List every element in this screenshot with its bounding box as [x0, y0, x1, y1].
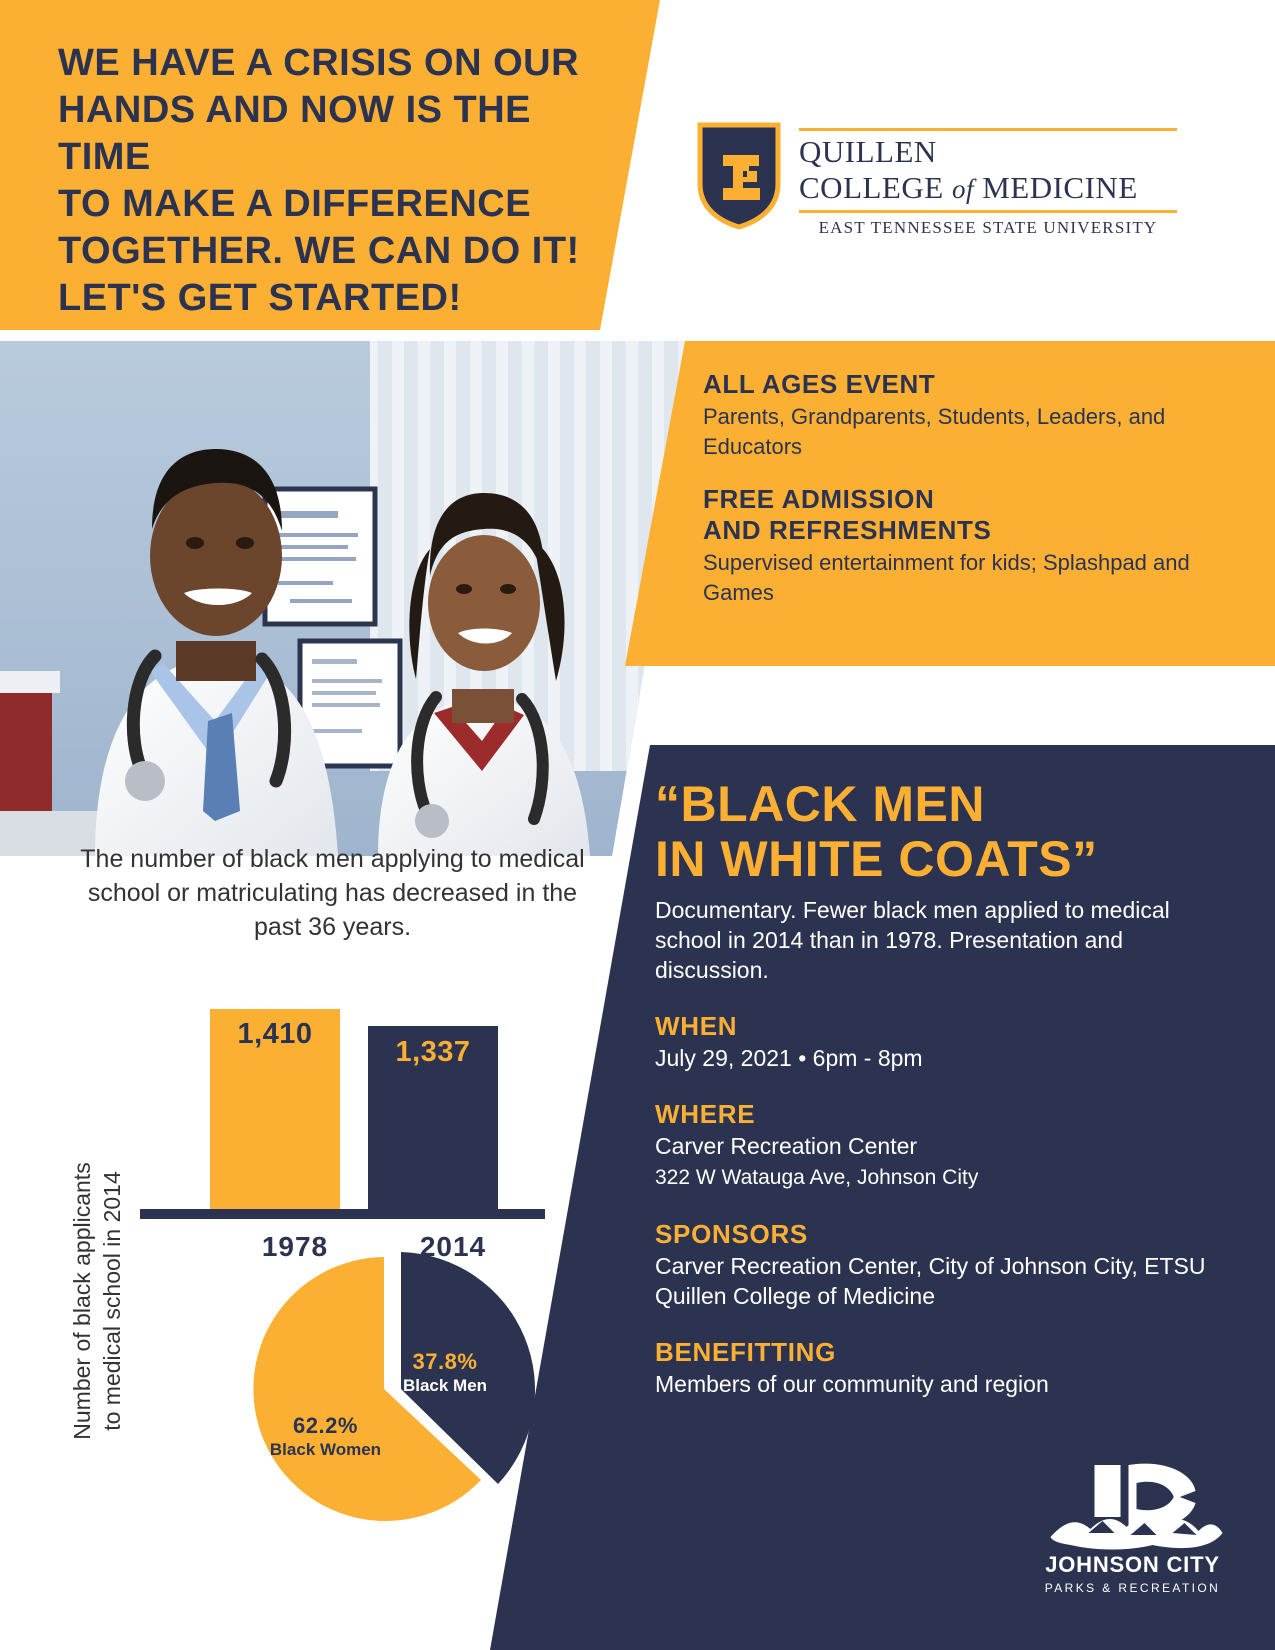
section-sponsors-list: Carver Recreation Center, City of Johnso… — [655, 1251, 1215, 1311]
logo-quillen: QUILLEN — [799, 131, 1177, 170]
info-spacer — [703, 462, 1223, 484]
info-body-free-admission: Supervised entertainment for kids; Splas… — [703, 548, 1223, 608]
pie-name-black-men: Black Men — [390, 1376, 500, 1396]
bar-chart-caption: The number of black men applying to medi… — [80, 842, 585, 944]
documentary-title-line-2: in White Coats” — [655, 832, 1215, 887]
section-when: When July 29, 2021 • 6pm - 8pm — [655, 1011, 1215, 1073]
info-heading-all-ages: All ages event — [703, 369, 1223, 400]
bar-value-2014: 1,337 — [368, 1036, 498, 1069]
headline-line-5: Let's get started! — [58, 275, 628, 322]
section-sponsors: Sponsors Carver Recreation Center, City … — [655, 1219, 1215, 1311]
info-heading-free-admission-line1: Free admission — [703, 484, 1223, 515]
pie-label-black-women: 62.2% Black Women — [263, 1413, 388, 1460]
section-where-heading: Where — [655, 1099, 1215, 1129]
headline-banner: We have a crisis on our hands and now is… — [0, 0, 660, 330]
event-info-panel: All ages event Parents, Grandparents, St… — [625, 341, 1275, 666]
pie-name-black-women: Black Women — [263, 1440, 388, 1460]
section-benefitting: Benefitting Members of our community and… — [655, 1337, 1215, 1399]
flyer-page: We have a crisis on our hands and now is… — [0, 0, 1275, 1650]
section-where: Where Carver Recreation Center 322 W Wat… — [655, 1099, 1215, 1193]
info-body-all-ages: Parents, Grandparents, Students, Leaders… — [703, 402, 1223, 462]
documentary-description: Documentary. Fewer black men applied to … — [655, 895, 1215, 985]
bar-value-1978: 1,410 — [210, 1018, 340, 1051]
section-when-heading: When — [655, 1011, 1215, 1041]
johnson-city-parks-logo: JOHNSON CITY PARKS & RECREATION — [1030, 1459, 1235, 1595]
etsu-shield-icon — [697, 122, 781, 230]
logo-college-of-medicine: COLLEGE of MEDICINE — [799, 170, 1177, 210]
headline-line-2: hands and now is the time — [58, 87, 628, 181]
section-when-datetime: July 29, 2021 • 6pm - 8pm — [655, 1043, 1215, 1073]
pie-percent-black-men: 37.8% — [390, 1349, 500, 1375]
info-heading-free-admission-line2: and refreshments — [703, 515, 1223, 546]
section-where-venue: Carver Recreation Center — [655, 1131, 1215, 1161]
section-benefitting-body: Members of our community and region — [655, 1369, 1215, 1399]
pie-label-black-men: 37.8% Black Men — [390, 1349, 500, 1396]
headline-line-4: together. We can do it! — [58, 228, 628, 275]
bar-chart-axis — [140, 1209, 545, 1219]
pie-percent-black-women: 62.2% — [263, 1413, 388, 1439]
documentary-title-line-1: “Black Men — [655, 777, 1215, 832]
jc-logo-title: JOHNSON CITY — [1030, 1552, 1235, 1578]
headline-line-3: to make a difference — [58, 181, 628, 228]
bar-chart: 1,410 1,337 1978 2014 — [120, 959, 560, 1219]
jc-logo-tagline: PARKS & RECREATION — [1030, 1581, 1235, 1595]
logo-medicine: MEDICINE — [974, 170, 1138, 205]
logo-university: EAST TENNESSEE STATE UNIVERSITY — [799, 213, 1177, 238]
section-benefitting-heading: Benefitting — [655, 1337, 1215, 1367]
logo-of: of — [952, 174, 974, 204]
etsu-wordmark: QUILLEN COLLEGE of MEDICINE EAST TENNESS… — [799, 122, 1177, 238]
documentary-title: “Black Men in White Coats” — [655, 777, 1215, 887]
headline-line-1: We have a crisis on our — [58, 40, 628, 87]
pie-chart: 37.8% Black Men 62.2% Black Women — [238, 1239, 538, 1539]
pie-chart-axis-label: Number of black applicants to medical sc… — [67, 1151, 127, 1451]
etsu-quillen-logo: QUILLEN COLLEGE of MEDICINE EAST TENNESS… — [697, 122, 1177, 257]
jc-mountains-icon — [1030, 1459, 1235, 1551]
headline-text: We have a crisis on our hands and now is… — [58, 40, 628, 322]
section-where-address: 322 W Watauga Ave, Johnson City — [655, 1163, 1215, 1193]
section-sponsors-heading: Sponsors — [655, 1219, 1215, 1249]
doctors-photo — [0, 341, 700, 856]
logo-college: COLLEGE — [799, 170, 952, 205]
